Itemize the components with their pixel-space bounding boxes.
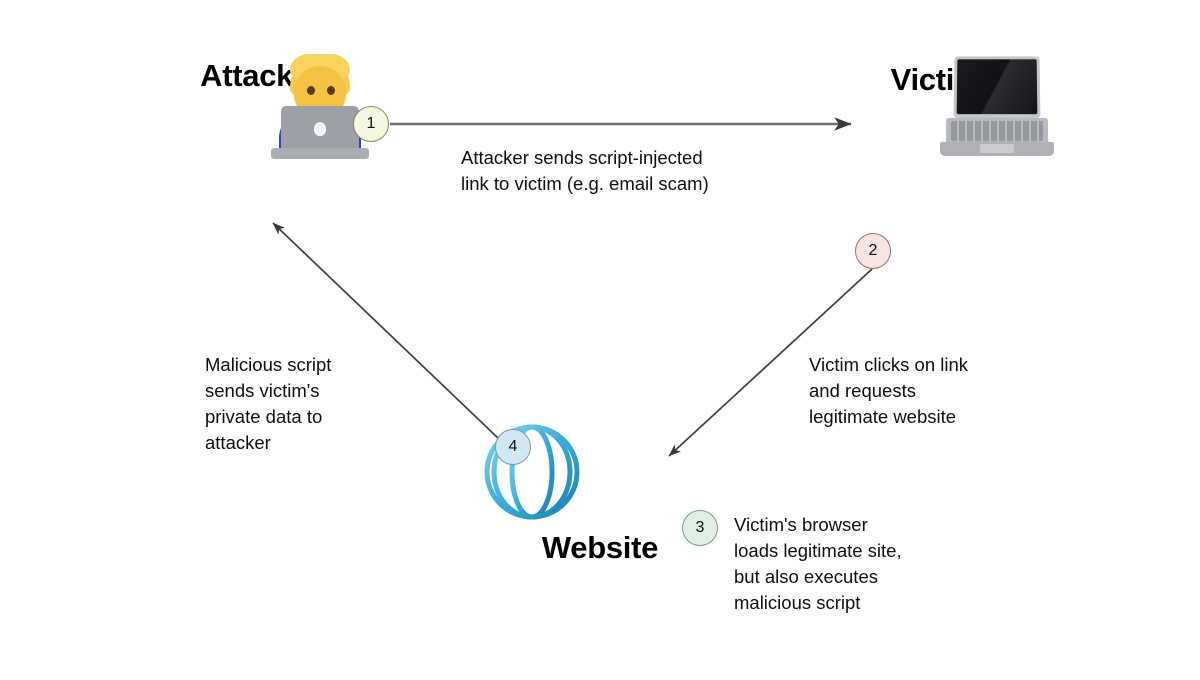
step-caption-2: Victim clicks on link and requests legit… (809, 352, 1019, 430)
step-caption-3: Victim's browser loads legitimate site, … (734, 512, 964, 616)
step-badge-4-number: 4 (509, 439, 518, 455)
diagram-canvas: Attacker Victim (0, 0, 1200, 680)
step-caption-1: Attacker sends script-injected link to v… (461, 145, 761, 197)
step-badge-2[interactable]: 2 (855, 233, 891, 269)
step-badge-2-number: 2 (869, 243, 878, 259)
step-badge-4[interactable]: 4 (495, 429, 531, 465)
step-badge-1-number: 1 (367, 116, 376, 132)
step-badge-1[interactable]: 1 (353, 106, 389, 142)
node-victim[interactable]: Victim (816, 56, 1056, 98)
step-caption-4: Malicious script sends victim's private … (205, 352, 405, 456)
node-attacker[interactable]: Attacker (141, 52, 381, 94)
step-badge-3-number: 3 (696, 520, 705, 536)
step-badge-3[interactable]: 3 (682, 510, 718, 546)
